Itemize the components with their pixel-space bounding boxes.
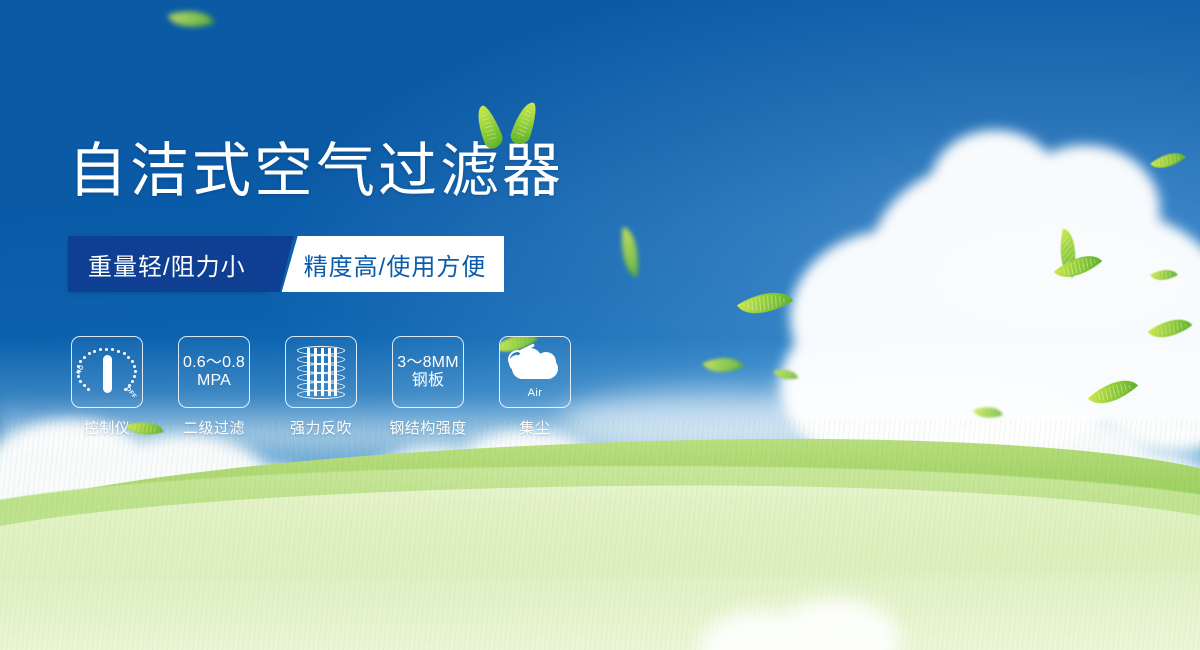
feature-item-control-gauge[interactable]: NO OFF 控制仪: [68, 336, 146, 438]
sprout-leaves-icon: [473, 99, 547, 151]
feature-icon-box: NO OFF: [71, 336, 143, 408]
feature-icon-box: 0.6～0.8 MPA: [178, 336, 250, 408]
filter-stack-icon: [294, 343, 348, 401]
feature-icon-box: 3～8MM 钢板: [392, 336, 464, 408]
pressure-value: 0.6～0.8: [183, 354, 245, 371]
feature-item-blowback[interactable]: 强力反吹: [282, 336, 360, 438]
low-cloud-puff: [690, 590, 910, 650]
feature-label: 集尘: [519, 417, 550, 438]
steel-material: 钢板: [397, 372, 458, 390]
air-cloud-icon: [506, 346, 564, 386]
feature-item-pressure[interactable]: 0.6～0.8 MPA 二级过滤: [175, 336, 253, 438]
feature-icon-box: [285, 336, 357, 408]
steel-text-icon: 3～8MM 钢板: [397, 354, 458, 390]
title-block: 自洁式空气过滤器: [68, 142, 564, 201]
gauge-icon: NO OFF: [77, 344, 137, 400]
gauge-off-label: OFF: [124, 386, 137, 400]
subtitle-left-panel: 重量轻/阻力小: [68, 236, 268, 292]
feature-icon-box: Air: [499, 336, 571, 408]
feature-item-steel[interactable]: 3～8MM 钢板 钢结构强度: [389, 336, 467, 438]
pressure-unit: MPA: [183, 372, 245, 390]
feature-item-dust-collection[interactable]: Air 集尘: [496, 336, 574, 438]
feature-label: 控制仪: [84, 417, 131, 438]
air-label: Air: [528, 387, 543, 399]
feature-list: NO OFF 控制仪 0.6～0.8 MPA 二级过滤: [68, 336, 574, 438]
feature-label: 钢结构强度: [389, 417, 467, 438]
promotional-banner: 自洁式空气过滤器 重量轻/阻力小 精度高/使用方便: [0, 0, 1200, 650]
subtitle-strip: 重量轻/阻力小 精度高/使用方便: [68, 236, 504, 292]
feature-label: 强力反吹: [290, 417, 352, 438]
subtitle-right-panel: 精度高/使用方便: [282, 236, 505, 292]
grass-field-front: [0, 480, 1200, 650]
pressure-text-icon: 0.6～0.8 MPA: [183, 354, 245, 390]
steel-thickness: 3～8MM: [397, 354, 458, 371]
feature-label: 二级过滤: [183, 417, 245, 438]
